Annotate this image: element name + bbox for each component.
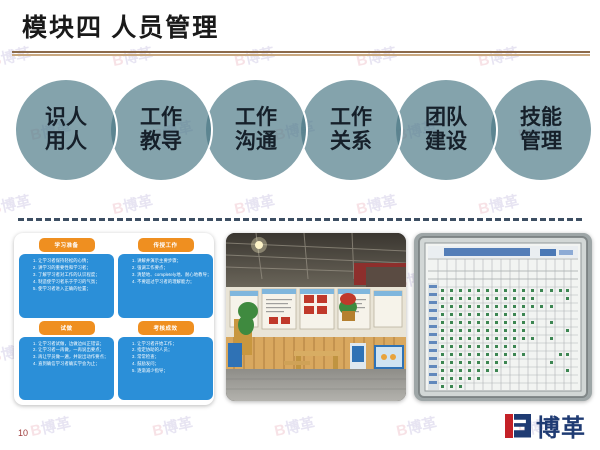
twi-step-body: 1. 讲解并演示主要步骤；2. 强调工作要点；3. 清楚地、completely… xyxy=(118,254,213,318)
title-underline-rule xyxy=(12,51,590,56)
workshop-training-area-photo xyxy=(226,233,406,401)
watermark-logo: B博革 xyxy=(476,190,520,219)
topic-circle-line2: 教导 xyxy=(140,130,182,154)
logo-mark-blue-glyph xyxy=(514,414,531,438)
twi-step-item: 4. 制造使学习者乐于学习的气氛； xyxy=(33,279,111,286)
brand-name: 博革 xyxy=(536,408,586,443)
title-block: 模块四 人员管理 xyxy=(0,8,600,56)
watermark-logo: B博革 xyxy=(110,190,154,219)
logo-mark-red-bar xyxy=(505,414,513,438)
twi-step-header: 试做 xyxy=(39,321,95,335)
page-number: 10 xyxy=(18,428,28,438)
twi-step-body: 1. 让学习者试做，边做边纠正错误；2. 让学习者一再做，一再说出要点；3. 再… xyxy=(19,337,114,401)
twi-step-item: 2. 让学习者一再做，一再说出要点； xyxy=(33,347,111,354)
topic-circle-line1: 工作 xyxy=(235,106,277,130)
watermark-logo: B博革 xyxy=(28,412,72,441)
topic-circle-job-communication[interactable]: 工作沟通 xyxy=(204,78,308,182)
skill-matrix-graphic xyxy=(414,233,592,401)
topic-circle-line1: 团队 xyxy=(425,106,467,130)
twi-step-item: 3. 常常检查； xyxy=(132,354,210,361)
twi-step-check-results: 考核成效1. 让学习者开始工作；2. 指定协助的人员；3. 常常检查；4. 鼓励… xyxy=(118,321,213,401)
twi-step-header: 考核成效 xyxy=(138,321,194,335)
topic-circle-team-building[interactable]: 团队建设 xyxy=(394,78,498,182)
twi-step-item: 3. 再让学员做一遍，并说出动作要点； xyxy=(33,354,111,361)
twi-step-teach-the-job: 传授工作1. 讲解并演示主要步骤；2. 强调工作要点；3. 清楚地、comple… xyxy=(118,238,213,318)
topic-circle-job-instruction[interactable]: 工作教导 xyxy=(109,78,213,182)
twi-step-item: 3. 清楚地、completely地、耐心地教导； xyxy=(132,272,210,279)
twi-four-step-card: 学习准备1. 让学习者保持轻松的心情；2. 讲学习的重要性和学习者；3. 了解学… xyxy=(14,233,214,405)
twi-step-item: 5. 逐渐减少指导； xyxy=(132,368,210,375)
twi-step-item: 2. 指定协助的人员； xyxy=(132,347,210,354)
twi-step-learning-preparation: 学习准备1. 让学习者保持轻松的心情；2. 讲学习的重要性和学习者；3. 了解学… xyxy=(19,238,114,318)
twi-step-item: 3. 了解学习者对工作的认识程度； xyxy=(33,272,111,279)
topic-circle-identify-and-use-people[interactable]: 识人用人 xyxy=(14,78,118,182)
watermark-logo: B博革 xyxy=(354,190,398,219)
topic-circle-line1: 工作 xyxy=(140,106,182,130)
brand-logo: 博革 xyxy=(505,408,586,443)
twi-step-item: 1. 让学习者试做，边做边纠正错误； xyxy=(33,341,111,348)
topic-circles-row: 识人用人工作教导工作沟通工作关系团队建设技能管理 xyxy=(14,78,592,186)
twi-step-header: 传授工作 xyxy=(138,238,194,252)
watermark-logo: B博革 xyxy=(394,412,438,441)
topic-circle-line2: 沟通 xyxy=(235,130,277,154)
twi-step-item: 5. 使学习者进入正确的位置； xyxy=(33,286,111,293)
watermark-logo: B博革 xyxy=(150,412,194,441)
topic-circle-skill-management[interactable]: 技能管理 xyxy=(489,78,593,182)
boge-logo-mark xyxy=(505,414,531,438)
twi-step-body: 1. 让学习者保持轻松的心情；2. 讲学习的重要性和学习者；3. 了解学习者对工… xyxy=(19,254,114,318)
topic-circle-line2: 关系 xyxy=(330,130,372,154)
twi-step-item: 1. 让学习者开始工作； xyxy=(132,341,210,348)
topic-circle-job-relations[interactable]: 工作关系 xyxy=(299,78,403,182)
watermark-logo: B博革 xyxy=(232,190,276,219)
bottom-content-row: 学习准备1. 让学习者保持轻松的心情；2. 讲学习的重要性和学习者；3. 了解学… xyxy=(14,233,592,408)
topic-circle-line2: 管理 xyxy=(520,130,562,154)
workshop-photo-graphic xyxy=(226,233,406,401)
twi-step-item: 4. 不要超过学习者的理解能力； xyxy=(132,279,210,286)
twi-step-try-out-performance: 试做1. 让学习者试做，边做边纠正错误；2. 让学习者一再做，一再说出要点；3.… xyxy=(19,321,114,401)
twi-step-body: 1. 让学习者开始工作；2. 指定协助的人员；3. 常常检查；4. 鼓励发问；5… xyxy=(118,337,213,401)
twi-step-grid: 学习准备1. 让学习者保持轻松的心情；2. 讲学习的重要性和学习者；3. 了解学… xyxy=(19,238,209,400)
topic-circle-line1: 识人 xyxy=(45,106,87,130)
watermark-logo: B博革 xyxy=(0,190,33,219)
twi-step-item: 2. 强调工作要点； xyxy=(132,265,210,272)
twi-step-item: 4. 鼓励发问； xyxy=(132,361,210,368)
twi-step-item: 1. 让学习者保持轻松的心情； xyxy=(33,258,111,265)
topic-circle-line2: 建设 xyxy=(425,130,467,154)
topic-circle-line1: 工作 xyxy=(330,106,372,130)
topic-circle-line1: 技能 xyxy=(520,106,562,130)
page-title: 模块四 人员管理 xyxy=(22,8,600,44)
skill-matrix-board-photo xyxy=(414,233,592,401)
twi-step-item: 1. 讲解并演示主要步骤； xyxy=(132,258,210,265)
topic-circle-line2: 用人 xyxy=(45,130,87,154)
watermark-logo: B博革 xyxy=(272,412,316,441)
twi-step-item: 4. 直到确信学习者确实学会为止； xyxy=(33,361,111,368)
twi-step-header: 学习准备 xyxy=(39,238,95,252)
twi-step-item: 2. 讲学习的重要性和学习者； xyxy=(33,265,111,272)
dashed-divider xyxy=(18,218,582,221)
